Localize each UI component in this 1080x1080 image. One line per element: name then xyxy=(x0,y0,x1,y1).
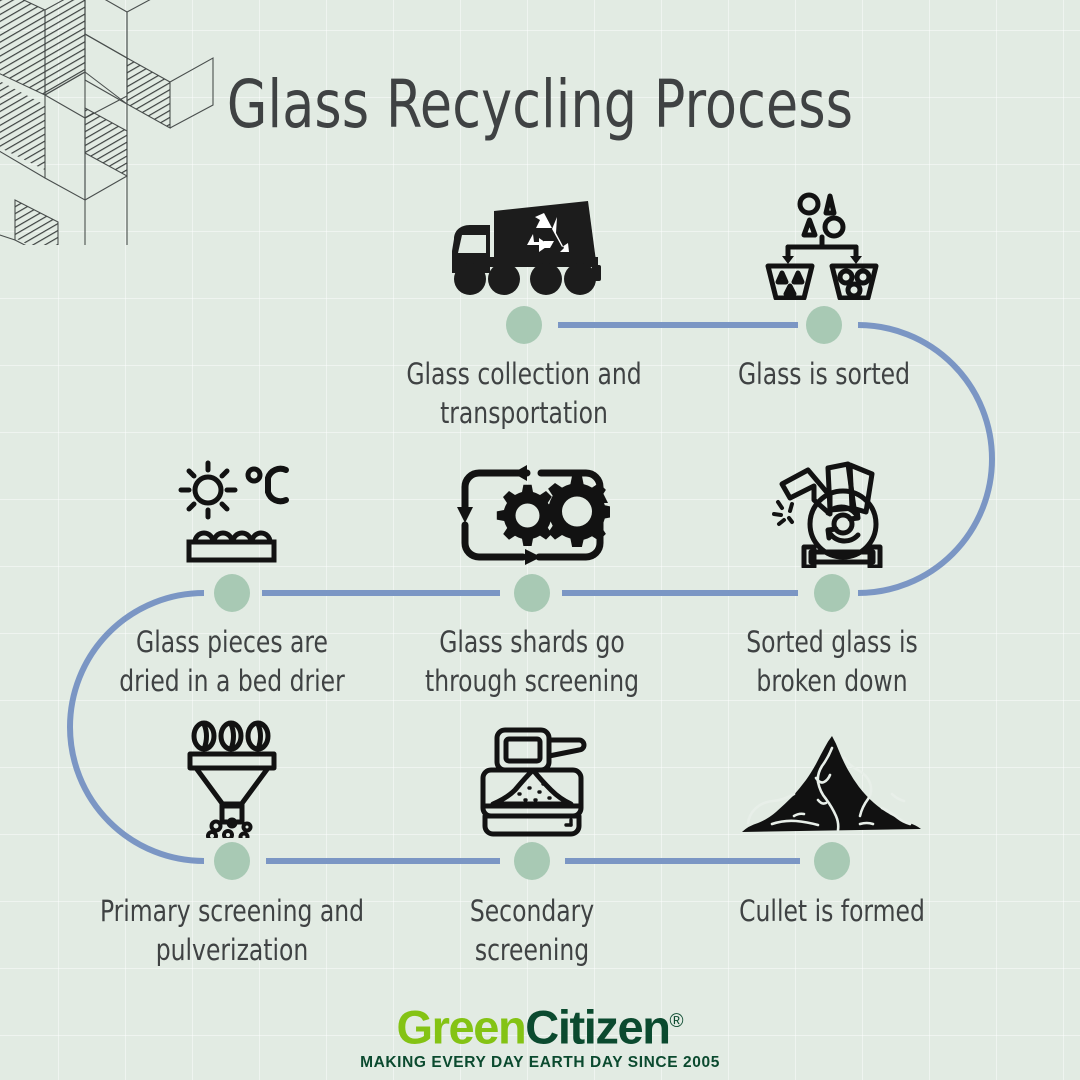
step-dot-8 xyxy=(814,842,850,880)
step-7-label-line1: Secondary xyxy=(397,892,667,931)
step-2-icon-box xyxy=(674,180,974,300)
registered-trademark-icon: ® xyxy=(670,1011,684,1032)
step-dot-2 xyxy=(806,306,842,344)
step-7-label-line2: screening xyxy=(397,931,667,970)
step-2-label-line1: Glass is sorted xyxy=(689,355,959,394)
crusher-machine-icon xyxy=(768,456,896,568)
step-7-icon-box xyxy=(382,718,682,838)
step-dot-7 xyxy=(514,842,550,880)
page-title: Glass Recycling Process xyxy=(65,66,1015,143)
step-dot-6 xyxy=(214,842,250,880)
step-dot-5 xyxy=(214,574,250,612)
step-5-label-line1: Glass pieces are xyxy=(97,623,367,662)
logo-wordmark: GreenCitizen® xyxy=(0,997,1080,1053)
step-5-icon-box xyxy=(82,450,382,568)
step-4-label: Glass shards go through screening xyxy=(397,623,667,701)
step-1-label-line2: transportation xyxy=(389,394,659,433)
step-1-icon-box xyxy=(374,180,674,300)
infographic-canvas: Glass Recycling Process xyxy=(0,0,1080,1080)
step-4-label-line2: through screening xyxy=(397,662,667,701)
step-3-label-line1: Sorted glass is xyxy=(697,623,967,662)
step-3-label-line2: broken down xyxy=(697,662,967,701)
step-6-icon-box xyxy=(82,718,382,838)
step-8-label: Cullet is formed xyxy=(697,892,967,931)
step-5-label: Glass pieces are dried in a bed drier xyxy=(97,623,367,701)
step-5-label-line2: dried in a bed drier xyxy=(97,662,367,701)
step-3-icon-box xyxy=(682,450,982,568)
step-4-icon-box xyxy=(382,450,682,568)
sun-temperature-bed-icon xyxy=(173,458,291,568)
recycling-truck-icon xyxy=(440,195,608,300)
step-dot-1 xyxy=(506,306,542,344)
step-dot-3 xyxy=(814,574,850,612)
logo-tagline: MAKING EVERY DAY EARTH DAY SINCE 2005 xyxy=(0,1054,1080,1072)
step-8-label-line1: Cullet is formed xyxy=(697,892,967,931)
step-1-label-line1: Glass collection and xyxy=(389,355,659,394)
greencitizen-logo[interactable]: GreenCitizen® MAKING EVERY DAY EARTH DAY… xyxy=(0,997,1080,1072)
step-6-label-line2: pulverization xyxy=(97,931,367,970)
step-4-label-line1: Glass shards go xyxy=(397,623,667,662)
step-dot-4 xyxy=(514,574,550,612)
step-3-label: Sorted glass is broken down xyxy=(697,623,967,701)
gears-cycle-icon xyxy=(455,463,610,568)
sorting-bins-icon xyxy=(764,190,884,300)
cullet-pile-icon xyxy=(732,728,932,838)
step-7-label: Secondary screening xyxy=(397,892,667,970)
step-8-icon-box xyxy=(682,718,982,838)
sieve-tray-icon xyxy=(471,726,593,838)
step-2-label: Glass is sorted xyxy=(689,355,959,394)
step-6-label: Primary screening and pulverization xyxy=(97,892,367,970)
logo-word-dark: Citizen xyxy=(525,1001,669,1054)
funnel-grinder-icon xyxy=(182,720,282,838)
logo-word-green: Green xyxy=(396,1001,525,1054)
step-6-label-line1: Primary screening and xyxy=(97,892,367,931)
step-1-label: Glass collection and transportation xyxy=(389,355,659,433)
